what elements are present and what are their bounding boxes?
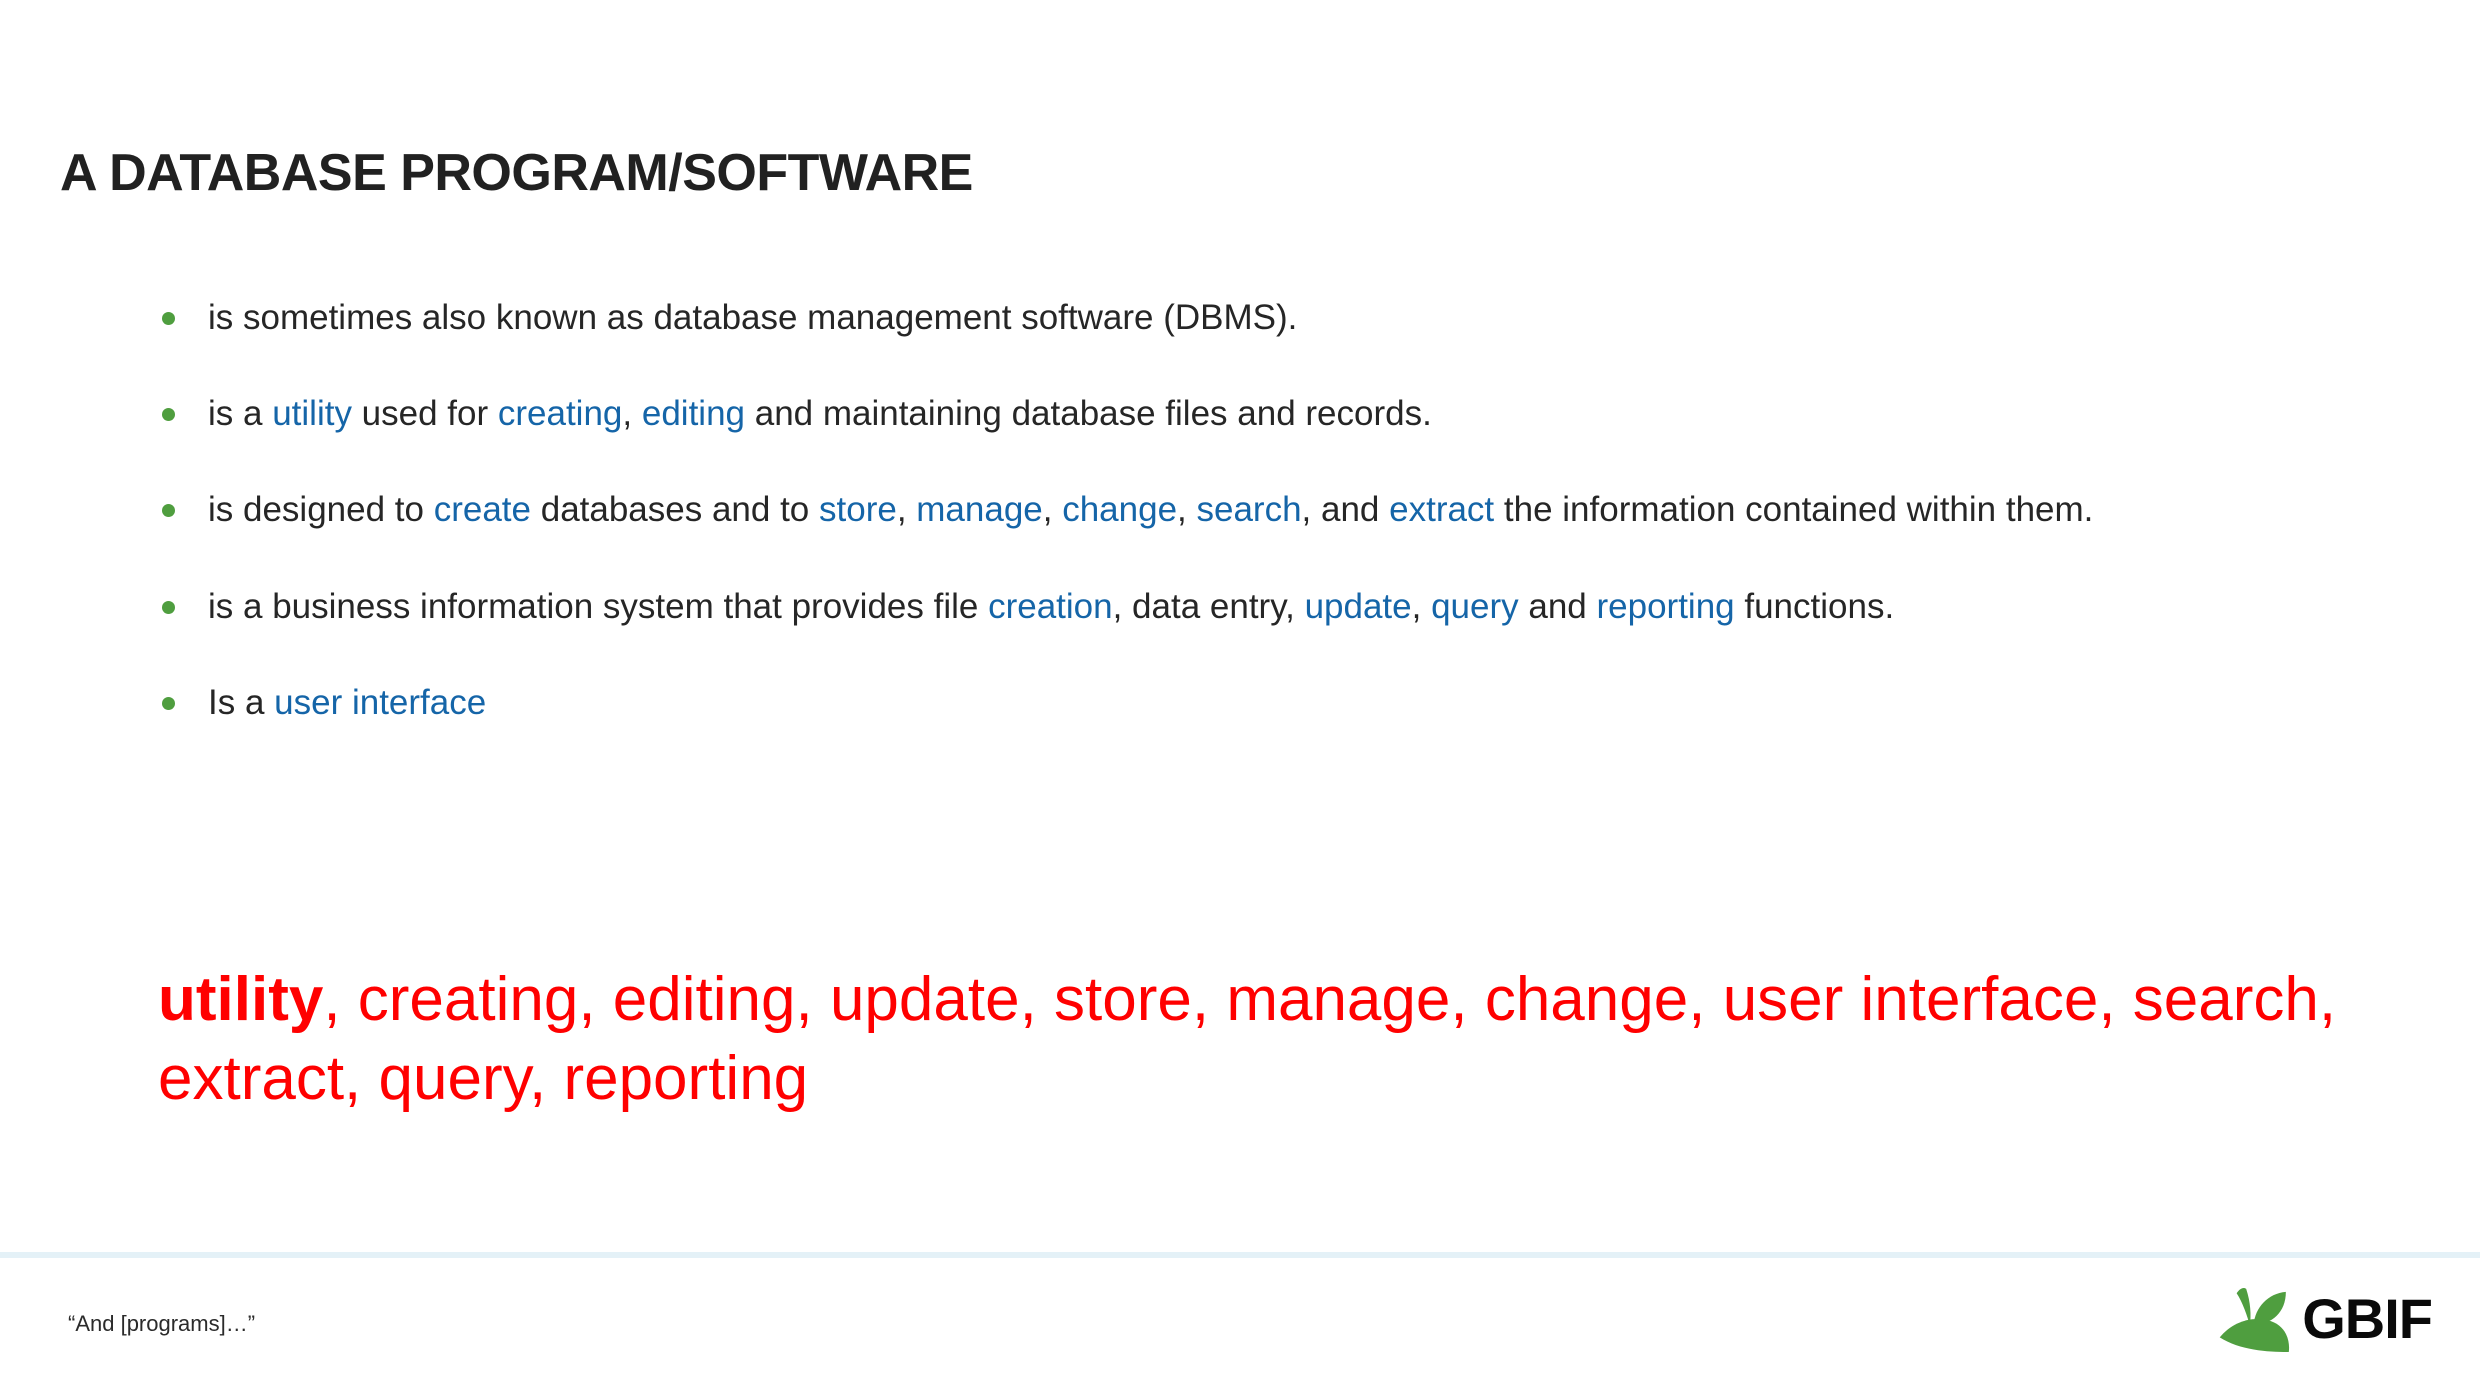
- text-run: is a: [208, 394, 272, 433]
- footer-note: “And [programs]…”: [68, 1313, 255, 1335]
- highlight-text-run: change: [1062, 490, 1177, 529]
- list-item-text: Is a user interface: [208, 683, 486, 722]
- text-run: used for: [352, 394, 498, 433]
- list-item-text: is sometimes also known as database mana…: [208, 298, 1297, 337]
- text-run: , creating, editing, update, store, mana…: [158, 965, 2336, 1113]
- highlight-text-run: creation: [988, 587, 1113, 626]
- gbif-logo: GBIF: [2218, 1283, 2432, 1355]
- highlight-text-run: utility: [272, 394, 352, 433]
- text-run: functions.: [1735, 587, 1895, 626]
- text-run: databases and to: [531, 490, 819, 529]
- text-run: , and: [1302, 490, 1390, 529]
- text-run: ,: [1412, 587, 1431, 626]
- text-run: Is a: [208, 683, 274, 722]
- text-run: is sometimes also known as database mana…: [208, 298, 1297, 337]
- highlight-text-run: reporting: [1597, 587, 1735, 626]
- page-title: A DATABASE PROGRAM/SOFTWARE: [60, 145, 973, 202]
- text-run: ,: [622, 394, 641, 433]
- bullet-dot-icon: [162, 312, 175, 325]
- slide-canvas: A DATABASE PROGRAM/SOFTWARE is sometimes…: [0, 0, 2480, 1395]
- text-run: is a business information system that pr…: [208, 587, 988, 626]
- leaf-sprout-icon: [2218, 1283, 2292, 1355]
- list-item: is sometimes also known as database mana…: [152, 295, 2382, 341]
- highlight-text-run: update: [1305, 587, 1412, 626]
- text-run: ,: [1043, 490, 1062, 529]
- highlight-text-run: creating: [498, 394, 623, 433]
- bullet-dot-icon: [162, 697, 175, 710]
- list-item: is a utility used for creating, editing …: [152, 391, 2382, 437]
- list-item: Is a user interface: [152, 680, 2382, 726]
- gbif-wordmark: GBIF: [2302, 1291, 2432, 1347]
- highlight-text-run: query: [1431, 587, 1519, 626]
- highlight-text-run: create: [434, 490, 531, 529]
- text-run: the information contained within them.: [1494, 490, 2093, 529]
- highlight-text-run: store: [819, 490, 897, 529]
- highlight-text-run: manage: [916, 490, 1042, 529]
- bullet-dot-icon: [162, 601, 175, 614]
- list-item-text: is designed to create databases and to s…: [208, 490, 2093, 529]
- highlight-text-run: utility: [158, 965, 323, 1034]
- text-run: and: [1519, 587, 1597, 626]
- keyword-summary: utility, creating, editing, update, stor…: [158, 960, 2458, 1119]
- highlight-text-run: editing: [642, 394, 745, 433]
- list-item: is a business information system that pr…: [152, 584, 2382, 630]
- text-run: and maintaining database files and recor…: [745, 394, 1432, 433]
- footer-divider: [0, 1252, 2480, 1258]
- list-item-text: is a business information system that pr…: [208, 587, 1894, 626]
- text-run: is designed to: [208, 490, 434, 529]
- highlight-text-run: user interface: [274, 683, 486, 722]
- list-item: is designed to create databases and to s…: [152, 487, 2382, 533]
- text-run: ,: [897, 490, 916, 529]
- text-run: ,: [1177, 490, 1196, 529]
- text-run: , data entry,: [1113, 587, 1305, 626]
- highlight-text-run: search: [1196, 490, 1301, 529]
- bullet-dot-icon: [162, 408, 175, 421]
- bullet-list: is sometimes also known as database mana…: [152, 295, 2382, 726]
- list-item-text: is a utility used for creating, editing …: [208, 394, 1432, 433]
- highlight-text-run: extract: [1389, 490, 1494, 529]
- bullet-dot-icon: [162, 504, 175, 517]
